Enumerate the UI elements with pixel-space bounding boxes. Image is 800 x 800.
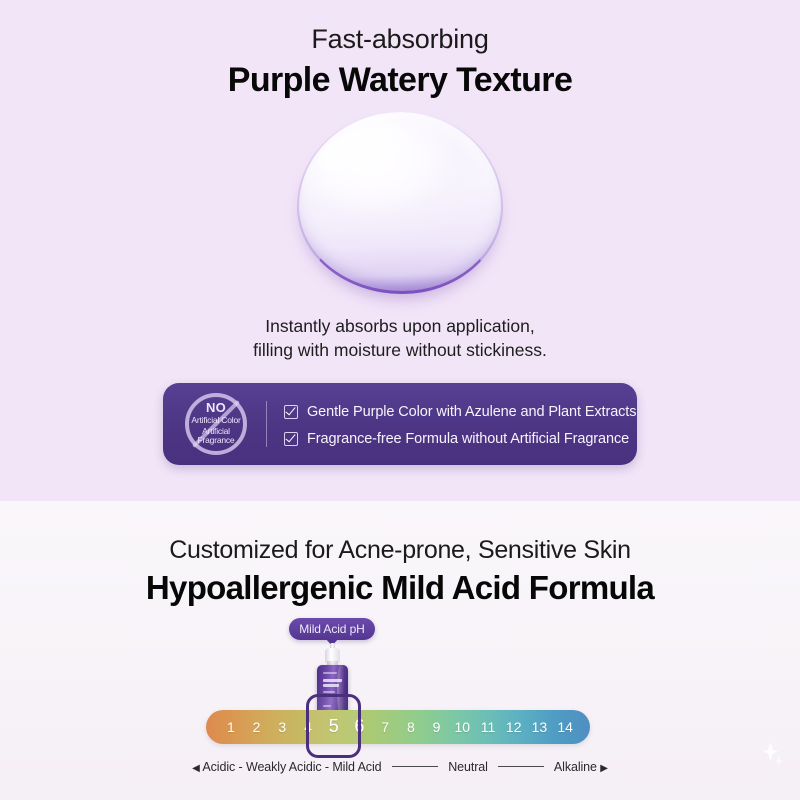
badge-title: NO bbox=[185, 401, 247, 414]
legend-divider bbox=[498, 766, 544, 767]
ph-range-highlight bbox=[306, 694, 361, 758]
legend-alkaline-label: Alkaline bbox=[554, 760, 597, 774]
claim-item: Fragrance-free Formula without Artificia… bbox=[284, 427, 624, 451]
ph-value-9: 9 bbox=[425, 719, 449, 735]
ph-value-11: 11 bbox=[476, 719, 500, 735]
ph-value-12: 12 bbox=[502, 719, 526, 735]
ph-value-13: 13 bbox=[527, 719, 551, 735]
texture-headline-block: Fast-absorbing Purple Watery Texture bbox=[0, 22, 800, 101]
sparkle-small bbox=[775, 756, 783, 766]
ph-value-3: 3 bbox=[270, 719, 294, 735]
claim-text: Fragrance-free Formula without Artificia… bbox=[307, 431, 629, 447]
tooltip-label: Mild Acid pH bbox=[299, 622, 365, 636]
texture-caption-line-2: filling with moisture without stickiness… bbox=[0, 338, 800, 362]
no-artificial-badge-icon: NO Artificial Color Artificial Fragrance bbox=[185, 393, 247, 455]
ph-headline-main: Hypoallergenic Mild Acid Formula bbox=[0, 568, 800, 608]
texture-headline-main: Purple Watery Texture bbox=[0, 59, 800, 101]
bottle-label-line bbox=[323, 691, 335, 693]
badge-line-3: Fragrance bbox=[185, 436, 247, 445]
banner-divider bbox=[266, 401, 267, 447]
ph-scale-bar: 1234567891011121314 bbox=[206, 710, 590, 744]
claims-banner: NO Artificial Color Artificial Fragrance… bbox=[163, 383, 637, 465]
legend-neutral-label: Neutral bbox=[448, 760, 488, 774]
watery-droplet-image bbox=[297, 112, 503, 294]
badge-line-1: Artificial Color bbox=[185, 416, 247, 425]
texture-caption-line-1: Instantly absorbs upon application, bbox=[0, 314, 800, 338]
product-detail-page: Fast-absorbing Purple Watery Texture Ins… bbox=[0, 0, 800, 800]
left-arrow-icon: ◀ bbox=[192, 763, 200, 774]
claims-list: Gentle Purple Color with Azulene and Pla… bbox=[284, 400, 624, 454]
ph-value-8: 8 bbox=[399, 719, 423, 735]
claim-item: Gentle Purple Color with Azulene and Pla… bbox=[284, 400, 624, 424]
ph-headline-sub: Customized for Acne-prone, Sensitive Ski… bbox=[0, 534, 800, 566]
sparkle-decoration-icon bbox=[760, 742, 782, 768]
sparkle-large bbox=[763, 742, 778, 761]
ph-value-7: 7 bbox=[373, 719, 397, 735]
legend-divider bbox=[392, 766, 438, 767]
badge-line-2: Artificial bbox=[185, 427, 247, 436]
ph-value-1: 1 bbox=[219, 719, 243, 735]
right-arrow-icon: ▶ bbox=[600, 763, 608, 774]
bottle-label-line bbox=[323, 672, 337, 674]
ph-headline-block: Customized for Acne-prone, Sensitive Ski… bbox=[0, 534, 800, 608]
ph-scale-legend: ◀ Acidic - Weakly Acidic - Mild Acid Neu… bbox=[0, 760, 800, 774]
ph-value-14: 14 bbox=[553, 719, 577, 735]
mild-acid-ph-tooltip: Mild Acid pH bbox=[289, 618, 375, 640]
checkbox-checked-icon bbox=[284, 432, 298, 446]
ph-value-2: 2 bbox=[245, 719, 269, 735]
checkbox-checked-icon bbox=[284, 405, 298, 419]
texture-headline-sub: Fast-absorbing bbox=[0, 22, 800, 56]
claim-text: Gentle Purple Color with Azulene and Pla… bbox=[307, 404, 636, 420]
texture-section: Fast-absorbing Purple Watery Texture Ins… bbox=[0, 0, 800, 501]
legend-acidic-label: Acidic - Weakly Acidic - Mild Acid bbox=[202, 760, 381, 774]
texture-caption: Instantly absorbs upon application, fill… bbox=[0, 314, 800, 362]
badge-text: NO Artificial Color Artificial Fragrance bbox=[185, 401, 247, 445]
ph-value-10: 10 bbox=[450, 719, 474, 735]
